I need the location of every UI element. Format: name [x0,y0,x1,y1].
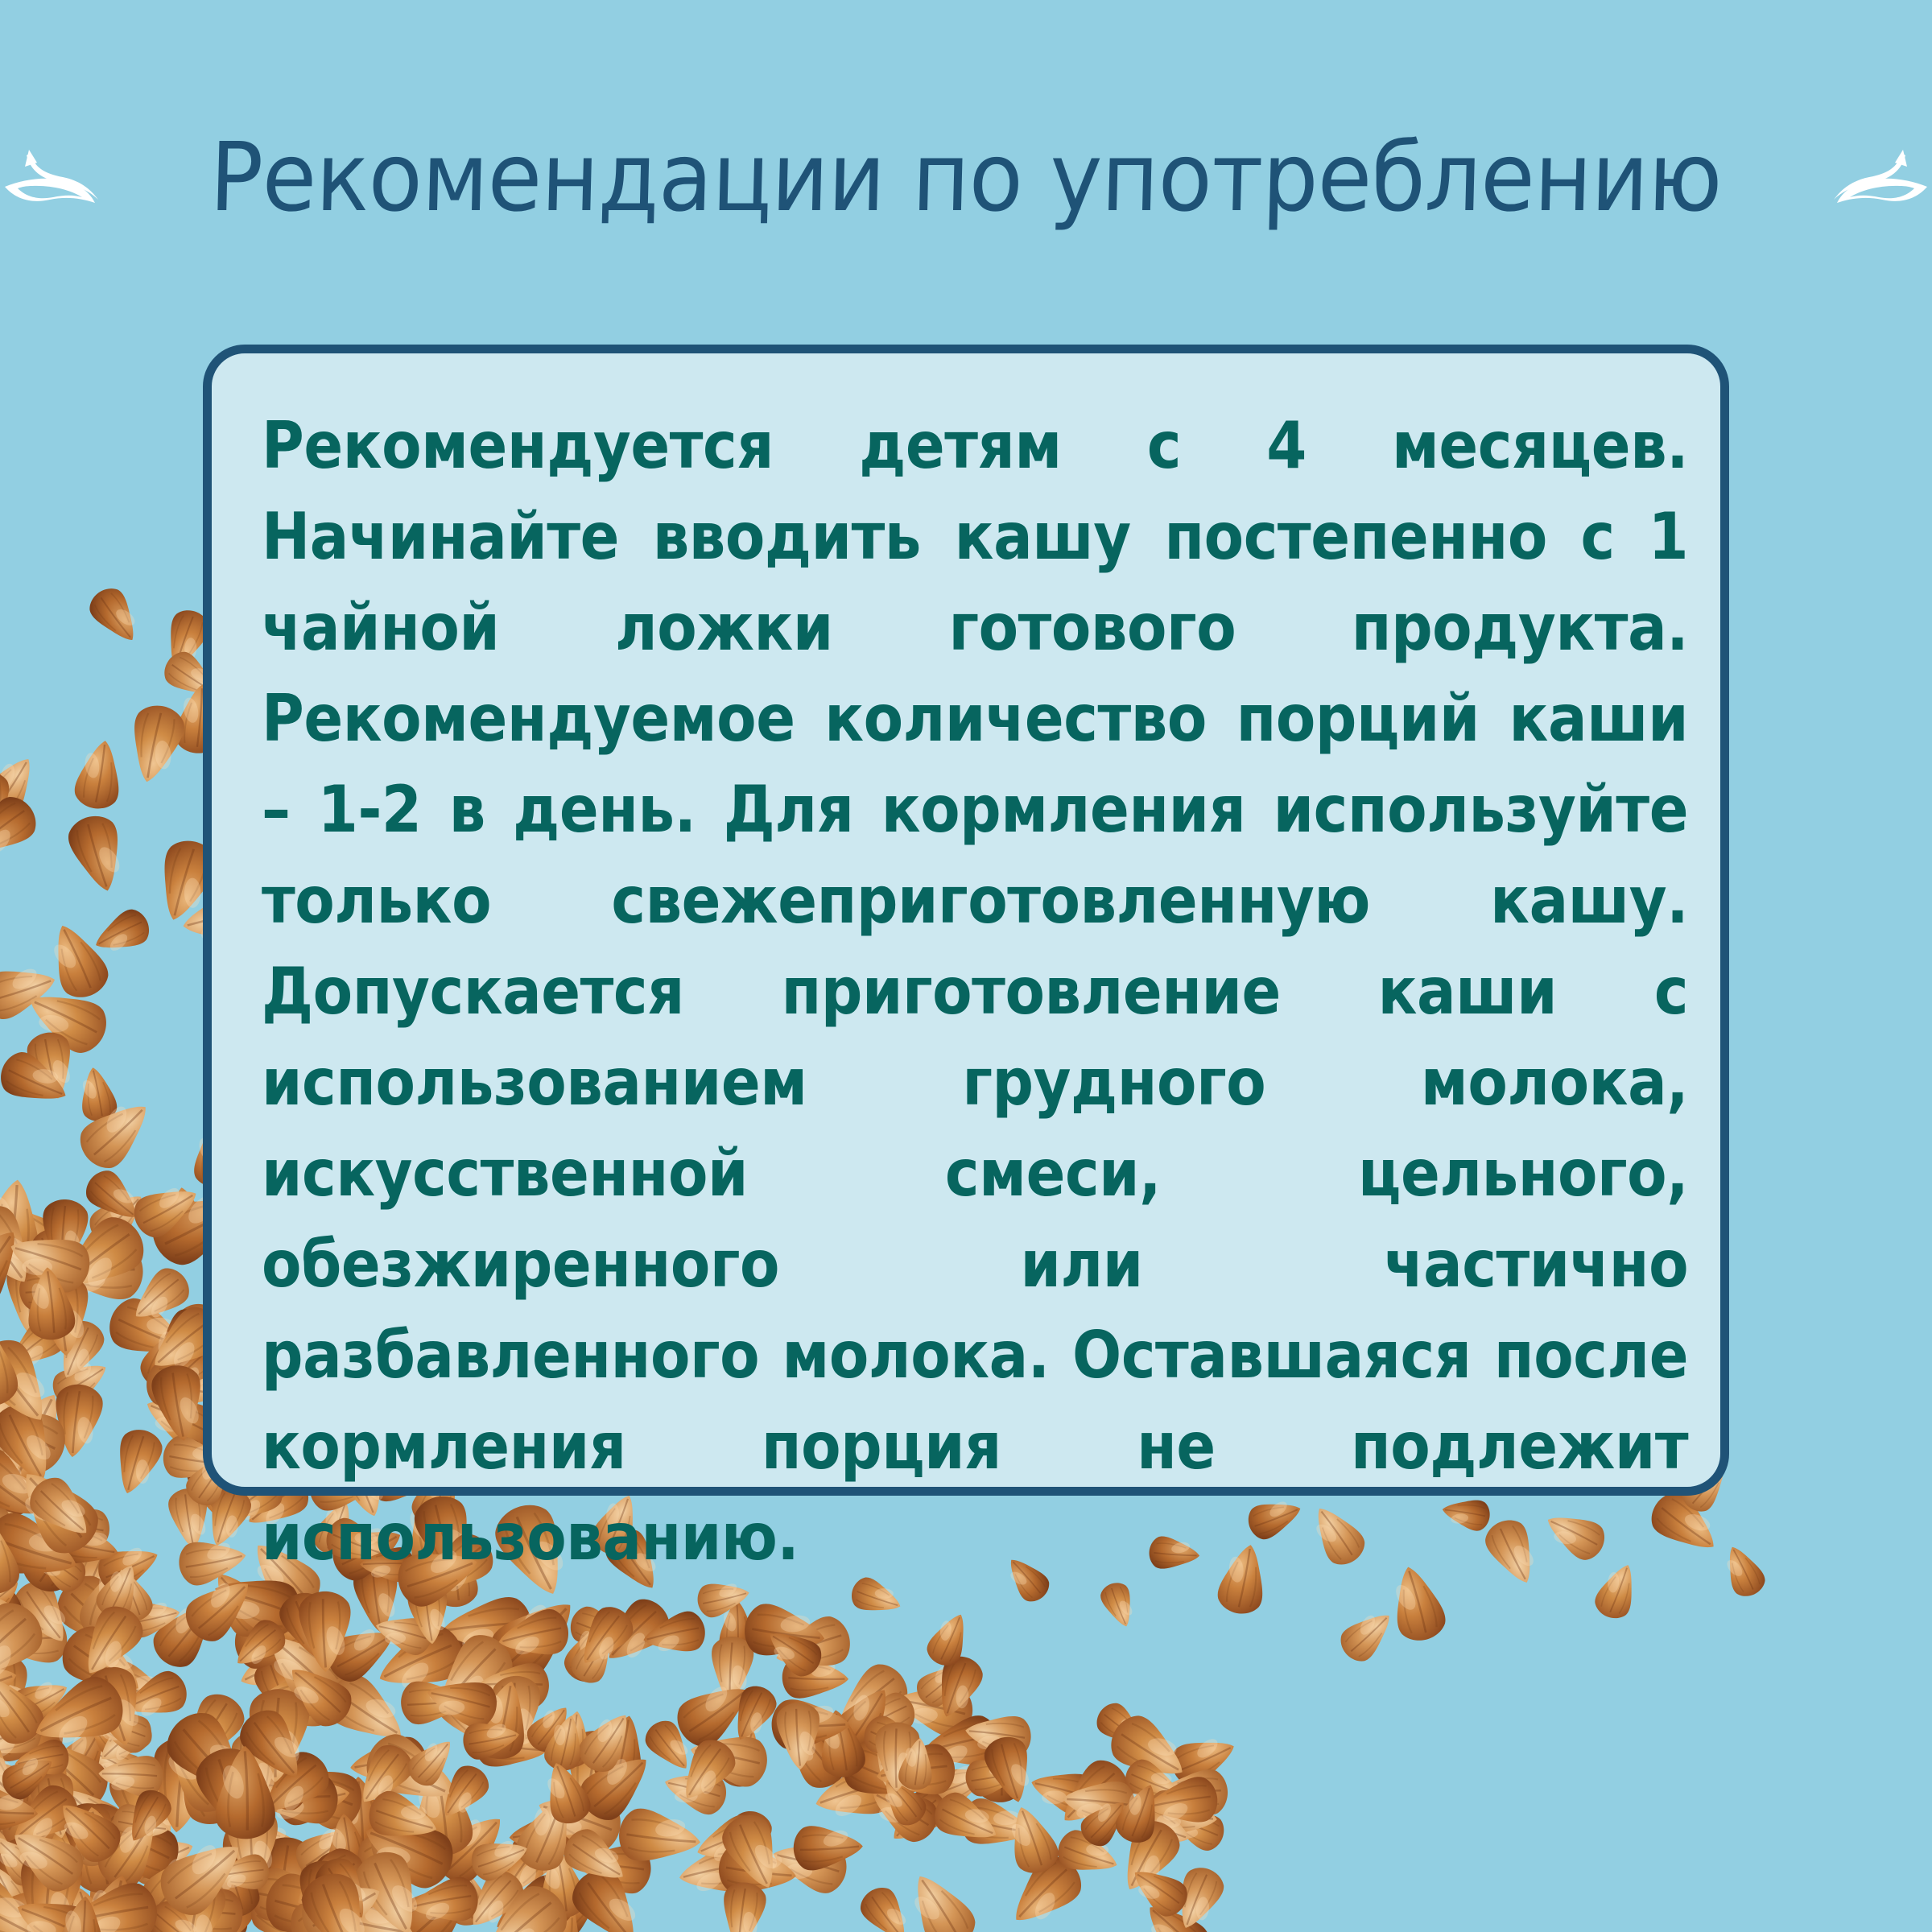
buckwheat-grain [72,737,126,812]
buckwheat-grain [296,1860,349,1932]
buckwheat-grain [537,1757,595,1828]
recommendation-text: Рекомендуется детям с 4 месяцев. Начинай… [262,400,1688,1674]
buckwheat-grain [0,1176,47,1276]
buckwheat-grain [1109,1813,1187,1901]
buckwheat-grain [123,1261,196,1331]
buckwheat-grain [0,1592,53,1698]
buckwheat-grain [7,1671,75,1730]
buckwheat-grain [27,1538,92,1598]
buckwheat-grain [60,1538,129,1619]
buckwheat-grain [559,1727,627,1821]
buckwheat-grain [897,1736,936,1792]
buckwheat-grain [557,1823,635,1894]
buckwheat-grain [873,1741,958,1801]
buckwheat-grain [510,1789,585,1878]
buckwheat-grain [0,1386,54,1473]
buckwheat-grain [0,1651,23,1721]
buckwheat-grain [332,1776,389,1862]
buckwheat-grain [47,1790,128,1870]
buckwheat-grain [793,1824,864,1871]
buckwheat-grain [1120,1794,1197,1859]
buckwheat-grain [27,1818,89,1881]
buckwheat-grain [289,1814,365,1885]
buckwheat-grain [246,1687,311,1784]
buckwheat-grain [0,1507,86,1594]
buckwheat-grain [963,1753,1024,1798]
buckwheat-grain [49,1518,122,1574]
buckwheat-grain [469,1676,536,1764]
buckwheat-grain [47,1352,115,1412]
buckwheat-grain [0,1768,87,1864]
buckwheat-grain [586,1718,637,1787]
buckwheat-grain [0,1878,16,1932]
buckwheat-grain [0,1859,40,1932]
buckwheat-grain [0,1705,47,1769]
buckwheat-grain [12,1737,72,1781]
buckwheat-grain [68,1868,152,1932]
buckwheat-grain [93,1537,165,1597]
buckwheat-grain [39,1198,89,1272]
buckwheat-grain [107,1425,167,1500]
buckwheat-grain [177,1726,238,1804]
buckwheat-grain [921,1755,993,1814]
buckwheat-grain [1124,1857,1194,1922]
buckwheat-grain [20,1868,77,1932]
buckwheat-grain [65,1880,161,1932]
buckwheat-grain [122,701,188,787]
buckwheat-grain [437,1858,492,1930]
buckwheat-grain [57,1882,120,1932]
buckwheat-grain [72,1810,111,1868]
buckwheat-grain [0,1670,44,1745]
buckwheat-grain [809,1758,900,1829]
buckwheat-grain [957,1795,1036,1855]
buckwheat-grain [0,1517,22,1596]
buckwheat-grain [826,1678,904,1762]
buckwheat-grain [328,1880,393,1932]
buckwheat-grain [251,1744,338,1827]
buckwheat-grain [147,1714,251,1823]
buckwheat-grain [21,1896,85,1932]
buckwheat-grain [215,1746,275,1839]
buckwheat-grain [0,1709,64,1764]
buckwheat-grain [14,1847,85,1932]
buckwheat-grain [0,1483,27,1579]
buckwheat-grain [0,1651,28,1743]
buckwheat-grain [873,1770,931,1831]
buckwheat-grain [177,1567,263,1649]
buckwheat-grain [0,1874,96,1932]
buckwheat-grain [0,1461,43,1521]
buckwheat-grain [281,1869,390,1932]
buckwheat-grain [64,811,131,897]
buckwheat-grain [0,1188,85,1287]
buckwheat-grain [0,1311,72,1379]
buckwheat-grain [14,1810,70,1880]
buckwheat-grain [522,1698,579,1758]
buckwheat-grain [770,1706,857,1797]
buckwheat-grain [772,1699,850,1749]
buckwheat-grain [323,1811,371,1880]
buckwheat-grain [266,1752,369,1836]
buckwheat-grain [48,1207,154,1306]
buckwheat-grain [919,1712,1004,1776]
buckwheat-grain [149,1362,208,1444]
buckwheat-grain [963,1710,1034,1761]
buckwheat-grain [0,1418,66,1526]
buckwheat-grain [173,1686,251,1773]
buckwheat-grain [0,1668,51,1772]
buckwheat-grain [162,1873,229,1932]
buckwheat-grain [161,1726,250,1833]
buckwheat-grain [18,1266,84,1311]
buckwheat-grain [572,1703,642,1779]
buckwheat-grain [0,1709,9,1798]
buckwheat-grain [0,1389,74,1480]
buckwheat-grain [0,1893,52,1930]
buckwheat-grain [42,1501,113,1553]
buckwheat-grain [260,1868,363,1932]
buckwheat-grain [0,1848,24,1932]
buckwheat-grain [1144,1788,1220,1842]
buckwheat-grain [92,1558,148,1624]
buckwheat-grain [1167,1862,1229,1932]
buckwheat-grain [0,1443,43,1524]
buckwheat-grain [1156,1769,1228,1817]
buckwheat-grain [50,1774,134,1857]
buckwheat-grain [716,1840,799,1901]
page-title: Рекомендации по употреблению [209,130,1724,225]
buckwheat-grain [0,1330,64,1436]
buckwheat-grain [0,1046,75,1116]
buckwheat-grain [74,1695,139,1762]
buckwheat-grain [96,1895,147,1932]
buckwheat-grain [110,1802,172,1847]
buckwheat-grain [19,976,114,1060]
buckwheat-grain [542,1711,589,1774]
buckwheat-grain [485,1868,581,1932]
buckwheat-grain [232,1702,316,1791]
buckwheat-grain [146,1590,227,1675]
buckwheat-grain [724,1680,782,1747]
buckwheat-grain [227,1806,279,1886]
buckwheat-grain [72,1088,163,1177]
buckwheat-grain [70,1598,151,1686]
buckwheat-grain [90,1707,159,1773]
buckwheat-grain [0,1191,19,1296]
buckwheat-grain [717,1880,768,1932]
buckwheat-grain [13,1719,118,1823]
buckwheat-grain [76,1065,119,1124]
buckwheat-grain [0,1785,39,1838]
buckwheat-grain [285,1841,375,1923]
buckwheat-grain [815,1707,868,1780]
buckwheat-grain [12,1895,77,1932]
buckwheat-grain [1163,1801,1228,1855]
buckwheat-grain [0,1869,26,1932]
buckwheat-grain [47,1566,151,1668]
buckwheat-grain [0,1694,55,1751]
buckwheat-grain [56,1243,144,1300]
buckwheat-grain [1717,1540,1769,1601]
buckwheat-grain [118,1784,177,1849]
buckwheat-grain [898,1863,983,1932]
buckwheat-grain [0,1616,31,1692]
page-title-row: Рекомендации по употреблению [0,97,1932,258]
buckwheat-grain [473,1718,551,1773]
buckwheat-grain [407,1875,481,1929]
buckwheat-grain [429,1673,509,1758]
buckwheat-grain [685,1725,771,1790]
buckwheat-grain [1166,1727,1242,1790]
buckwheat-grain [0,1492,26,1574]
buckwheat-grain [64,1802,135,1897]
buckwheat-grain [1026,1762,1101,1821]
buckwheat-grain [40,916,114,1005]
buckwheat-grain [101,1292,196,1372]
buckwheat-grain [222,1819,303,1872]
buckwheat-grain [1,1815,92,1899]
buckwheat-grain [151,1825,256,1925]
buckwheat-grain [106,1897,145,1932]
buckwheat-grain [118,1666,192,1728]
buckwheat-grain [19,1835,89,1913]
buckwheat-grain [1060,1776,1137,1830]
buckwheat-grain [0,1439,54,1534]
buckwheat-grain [45,1794,141,1893]
buckwheat-grain [0,1549,27,1641]
buckwheat-grain [0,1834,62,1930]
buckwheat-grain [572,1741,662,1829]
buckwheat-grain [48,1315,109,1385]
buckwheat-grain [766,1831,852,1897]
buckwheat-grain [669,1670,762,1755]
buckwheat-grain [102,1750,193,1860]
buckwheat-grain [720,1806,776,1876]
buckwheat-grain [146,1734,217,1835]
buckwheat-grain [0,1498,34,1588]
buckwheat-grain [84,582,147,651]
buckwheat-grain [866,1719,921,1791]
buckwheat-grain [157,1702,263,1810]
buckwheat-grain [95,1656,177,1722]
buckwheat-grain [213,1853,270,1894]
buckwheat-grain [980,1732,1039,1808]
buckwheat-grain [140,1894,210,1932]
buckwheat-grain [189,1740,276,1848]
buckwheat-grain [563,1860,653,1932]
buckwheat-grain [167,1486,213,1550]
buckwheat-grain [65,1681,134,1757]
buckwheat-grain [0,1396,36,1450]
buckwheat-grain [85,1737,150,1794]
buckwheat-grain [183,1872,253,1932]
buckwheat-grain [530,1780,628,1860]
buckwheat-grain [675,1841,757,1901]
buckwheat-grain [854,1881,919,1932]
recommendation-card: Рекомендуется детям с 4 месяцев. Начинай… [203,345,1729,1496]
buckwheat-grain [492,1676,540,1752]
buckwheat-grain [1049,1752,1137,1838]
buckwheat-grain [928,1786,1005,1853]
buckwheat-grain [0,1664,52,1752]
buckwheat-grain [7,1885,101,1932]
buckwheat-grain [514,1880,596,1932]
buckwheat-grain [175,1534,249,1588]
leaf-swirl-icon [0,129,121,225]
buckwheat-grain [1134,1891,1216,1932]
buckwheat-grain [247,1864,337,1930]
buckwheat-grain [0,1695,19,1761]
buckwheat-grain [2,1222,97,1298]
buckwheat-grain [22,1470,101,1549]
buckwheat-grain [716,1808,791,1897]
buckwheat-grain [0,1196,47,1296]
buckwheat-grain [0,1864,50,1932]
buckwheat-grain [353,1804,461,1896]
buckwheat-grain [639,1715,700,1779]
buckwheat-grain [0,790,44,869]
buckwheat-grain [90,1804,187,1886]
buckwheat-grain [62,1802,115,1880]
buckwheat-grain [134,1841,217,1926]
buckwheat-grain [0,748,46,825]
buckwheat-grain [24,1265,76,1342]
buckwheat-grain [508,1812,574,1857]
buckwheat-grain [1075,1791,1135,1852]
buckwheat-grain [127,1174,206,1243]
buckwheat-grain [469,1876,577,1932]
buckwheat-grain [1120,1755,1185,1810]
buckwheat-grain [105,1563,156,1626]
buckwheat-grain [134,1315,206,1397]
buckwheat-grain [13,1735,83,1822]
buckwheat-grain [49,1381,105,1460]
buckwheat-grain [97,1753,164,1798]
buckwheat-grain [408,1764,475,1859]
buckwheat-grain [357,1726,464,1818]
buckwheat-grain [0,1864,38,1932]
buckwheat-grain [53,1617,154,1711]
buckwheat-grain [89,1703,156,1757]
buckwheat-grain [163,1886,244,1932]
buckwheat-grain [0,1216,35,1319]
buckwheat-grain [1053,1826,1124,1884]
buckwheat-grain [0,1615,68,1667]
buckwheat-grain [369,1817,444,1871]
buckwheat-grain [591,1711,652,1792]
buckwheat-grain [83,1183,155,1253]
buckwheat-grain [874,1722,920,1792]
buckwheat-grain [859,1711,928,1769]
buckwheat-grain [27,1768,83,1843]
leaf-swirl-icon [1811,129,1932,225]
buckwheat-grain [535,1847,588,1921]
buckwheat-grain [6,1258,56,1335]
buckwheat-grain [79,1164,147,1231]
buckwheat-grain [670,1732,742,1810]
buckwheat-grain [159,1847,248,1932]
buckwheat-grain [122,1596,183,1641]
buckwheat-grain [0,1666,35,1740]
buckwheat-grain [247,1669,339,1734]
buckwheat-grain [0,1828,49,1892]
buckwheat-grain [422,1670,502,1732]
buckwheat-grain [0,1442,29,1515]
buckwheat-grain [849,1687,921,1749]
buckwheat-grain [0,1744,76,1846]
buckwheat-grain [45,1716,119,1798]
buckwheat-grain [252,1834,318,1926]
buckwheat-grain [88,905,155,962]
buckwheat-grain [55,1894,109,1932]
buckwheat-grain [458,1864,530,1932]
buckwheat-grain [485,1822,566,1908]
buckwheat-grain [348,1844,433,1932]
buckwheat-grain [0,1568,28,1628]
buckwheat-grain [122,1826,200,1889]
buckwheat-grain [24,1223,88,1291]
buckwheat-grain [4,1455,109,1564]
buckwheat-grain [0,1355,32,1436]
buckwheat-grain [308,1851,379,1929]
buckwheat-grain [467,1831,533,1885]
buckwheat-grain [976,1729,1024,1803]
buckwheat-grain [165,1868,264,1932]
buckwheat-grain [273,1769,353,1828]
buckwheat-grain [402,1731,462,1792]
buckwheat-grain [230,1730,281,1806]
buckwheat-grain [1144,1774,1220,1829]
buckwheat-grain [776,1702,822,1771]
buckwheat-grain [1111,1778,1168,1848]
buckwheat-grain [0,1856,27,1923]
buckwheat-grain [1091,1698,1153,1757]
buckwheat-grain [400,1678,469,1725]
buckwheat-grain [258,1772,339,1827]
poster-root: Рекомендации по употреблению Рекомендует… [0,0,1932,1932]
buckwheat-grain [318,1666,416,1757]
buckwheat-grain [319,1885,419,1932]
buckwheat-grain [202,1844,264,1922]
buckwheat-grain [891,1675,977,1740]
buckwheat-grain [14,1510,97,1600]
buckwheat-grain [1102,1707,1195,1793]
buckwheat-grain [551,1708,595,1769]
buckwheat-grain [0,1585,14,1633]
buckwheat-grain [364,1786,444,1851]
buckwheat-grain [0,1764,59,1866]
buckwheat-grain [24,1029,79,1103]
buckwheat-grain [714,1724,771,1792]
buckwheat-grain [431,1759,495,1827]
buckwheat-grain [0,1397,66,1492]
buckwheat-grain [691,1810,768,1872]
buckwheat-grain [348,1738,420,1814]
buckwheat-grain [380,1860,490,1932]
buckwheat-grain [6,1574,80,1653]
buckwheat-grain [1001,1801,1063,1879]
buckwheat-grain [348,1735,430,1792]
buckwheat-grain [90,1808,171,1895]
buckwheat-grain [69,1818,165,1921]
buckwheat-grain [295,1866,381,1932]
buckwheat-grain [999,1847,1091,1932]
buckwheat-grain [0,771,10,836]
buckwheat-grain [717,1852,772,1892]
buckwheat-grain [0,1879,63,1932]
buckwheat-grain [425,1801,517,1892]
